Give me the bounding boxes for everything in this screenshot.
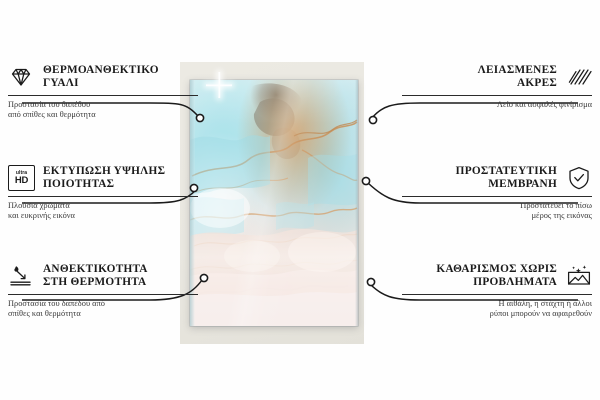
glass-right-edge <box>355 80 358 326</box>
feature-header: ΛΕΙΑΣΜΕΝΕΣ ΑΚΡΕΣ <box>402 64 592 91</box>
easy-cleaning-icon <box>566 263 592 289</box>
feature-thermal-resistant-glass[interactable]: ΘΕΡΜΟΑΝΘΕΚΤΙΚΟ ΓΥΑΛΙ Προστασία του δαπέδ… <box>8 64 198 121</box>
diamond-icon <box>8 64 34 90</box>
product-image-group <box>172 58 372 348</box>
feature-title: ΘΕΡΜΟΑΝΘΕΚΤΙΚΟ ΓΥΑΛΙ <box>43 64 159 91</box>
feature-header: ΠΡΟΣΤΑΤΕΥΤΙΚΗ ΜΕΜΒΡΑΝΗ <box>402 165 592 192</box>
feature-polished-edges[interactable]: ΛΕΙΑΣΜΕΝΕΣ ΑΚΡΕΣ Λείο και ασφαλές φινίρι… <box>402 64 592 110</box>
feature-divider <box>402 196 592 197</box>
shield-check-icon <box>566 165 592 191</box>
feature-heat-resistance[interactable]: ΑΝΘΕΚΤΙΚΟΤΗΤΑ ΣΤΗ ΘΕΡΜΟΤΗΤΑ Προστασία το… <box>8 263 198 320</box>
glass-panel <box>190 80 358 326</box>
heat-resistance-icon <box>8 263 34 289</box>
feature-divider <box>8 196 198 197</box>
feature-high-quality-print[interactable]: ultra HD ΕΚΤΥΠΩΣΗ ΥΨΗΛΗΣ ΠΟΙΟΤΗΤΑΣ Πλούσ… <box>8 165 198 222</box>
feature-divider <box>8 95 198 96</box>
feature-description: Η αιθάλη, η στάχτη ή άλλοι ρύποι μπορούν… <box>402 299 592 320</box>
feature-description: Προστατεύει το πίσω μέρος της εικόνας <box>402 201 592 222</box>
feature-description: Λείο και ασφαλές φινίρισμα <box>402 100 592 110</box>
feature-divider <box>8 294 198 295</box>
feature-easy-cleaning[interactable]: ΚΑΘΑΡΙΣΜΟΣ ΧΩΡΙΣ ΠΡΟΒΛΗΜΑΤΑ Η αιθάλη, η … <box>402 263 592 320</box>
feature-header: ΚΑΘΑΡΙΣΜΟΣ ΧΩΡΙΣ ΠΡΟΒΛΗΜΑΤΑ <box>402 263 592 290</box>
feature-title: ΑΝΘΕΚΤΙΚΟΤΗΤΑ ΣΤΗ ΘΕΡΜΟΤΗΤΑ <box>43 263 148 290</box>
feature-description: Πλούσια χρώματα και ευκρινής εικόνα <box>8 201 198 222</box>
feature-title: ΛΕΙΑΣΜΕΝΕΣ ΑΚΡΕΣ <box>478 64 557 91</box>
feature-title: ΚΑΘΑΡΙΣΜΟΣ ΧΩΡΙΣ ΠΡΟΒΛΗΜΑΤΑ <box>436 263 557 290</box>
feature-description: Προστασία του δαπέδου από σπίθες και θερ… <box>8 100 198 121</box>
feature-divider <box>402 294 592 295</box>
feature-divider <box>402 95 592 96</box>
glass-gloss-overlay <box>190 80 358 326</box>
ultra-hd-large-label: HD <box>15 176 28 186</box>
feature-title: ΕΚΤΥΠΩΣΗ ΥΨΗΛΗΣ ΠΟΙΟΤΗΤΑΣ <box>43 165 165 192</box>
infographic-canvas: ΘΕΡΜΟΑΝΘΕΚΤΙΚΟ ΓΥΑΛΙ Προστασία του δαπέδ… <box>0 0 600 400</box>
polished-edges-icon <box>566 64 592 90</box>
feature-description: Προστασία του δαπέδου από σπίθες και θερ… <box>8 299 198 320</box>
feature-header: ΘΕΡΜΟΑΝΘΕΚΤΙΚΟ ΓΥΑΛΙ <box>8 64 198 91</box>
feature-title: ΠΡΟΣΤΑΤΕΥΤΙΚΗ ΜΕΜΒΡΑΝΗ <box>456 165 557 192</box>
ultra-hd-icon: ultra HD <box>8 165 34 191</box>
feature-protective-membrane[interactable]: ΠΡΟΣΤΑΤΕΥΤΙΚΗ ΜΕΜΒΡΑΝΗ Προστατεύει το πί… <box>402 165 592 222</box>
feature-header: ΑΝΘΕΚΤΙΚΟΤΗΤΑ ΣΤΗ ΘΕΡΜΟΤΗΤΑ <box>8 263 198 290</box>
feature-header: ultra HD ΕΚΤΥΠΩΣΗ ΥΨΗΛΗΣ ΠΟΙΟΤΗΤΑΣ <box>8 165 198 192</box>
